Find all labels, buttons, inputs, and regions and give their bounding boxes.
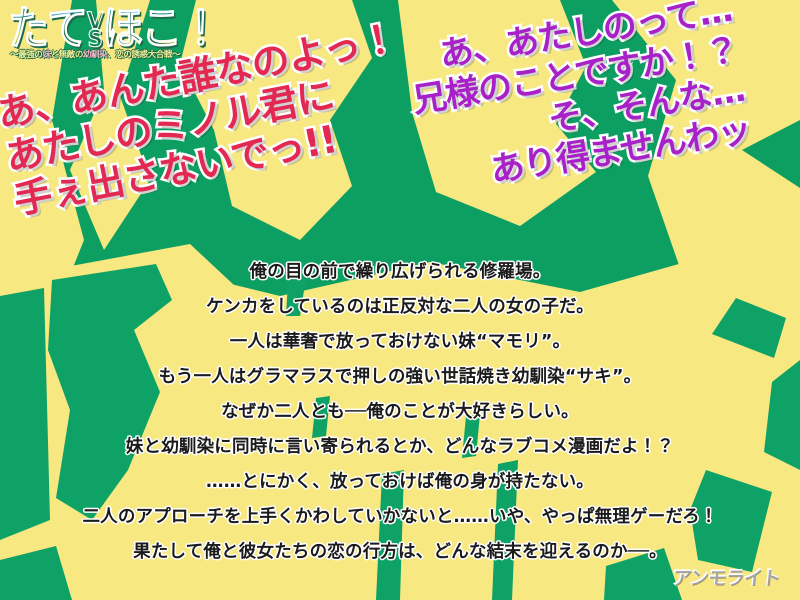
promo-banner: たてVSほこ！ ～最強の妹と無敵の幼馴染、恋の誘惑大合戦～ あ、あんた誰なのよっ… (0, 0, 800, 600)
title-logo-vs: VS (87, 11, 101, 48)
narration-line: 二人のアプローチを上手くかわしていかないと……いや、やっぱ無理ゲーだろ！ (0, 503, 800, 528)
narration-block: 俺の目の前で繰り広げられる修羅場。 ケンカをしているのは正反対な二人の女の子だ。… (0, 258, 800, 573)
narration-line: ……とにかく、放っておけば俺の身が持たない。 (0, 468, 800, 493)
brand-badge[interactable]: アンモライト (663, 566, 788, 592)
narration-line: 果たして俺と彼女たちの恋の行方は、どんな結末を迎えるのか──。 (0, 538, 800, 563)
narration-line: なぜか二人とも──俺のことが大好きらしい。 (0, 398, 800, 423)
brand-badge-label: アンモライト (671, 569, 780, 588)
narration-line: もう一人はグラマラスで押しの強い世話焼き幼馴染“サキ”。 (0, 363, 800, 388)
title-logo-part-1: たて (8, 2, 86, 56)
narration-line: ケンカをしているのは正反対な二人の女の子だ。 (0, 293, 800, 318)
narration-line: 俺の目の前で繰り広げられる修羅場。 (0, 258, 800, 283)
title-logo: たてVSほこ！ ～最強の妹と無敵の幼馴染、恋の誘惑大合戦～ (8, 6, 208, 72)
title-logo-vs-bottom: S (87, 30, 101, 48)
title-logo-part-2: ほこ！ (102, 2, 219, 56)
narration-line: 一人は華奢で放っておけない妹“マモリ”。 (0, 328, 800, 353)
narration-line: 妹と幼馴染に同時に言い寄られるとか、どんなラブコメ漫画だよ！？ (0, 433, 800, 458)
title-logo-main: たてVSほこ！ (8, 6, 208, 52)
